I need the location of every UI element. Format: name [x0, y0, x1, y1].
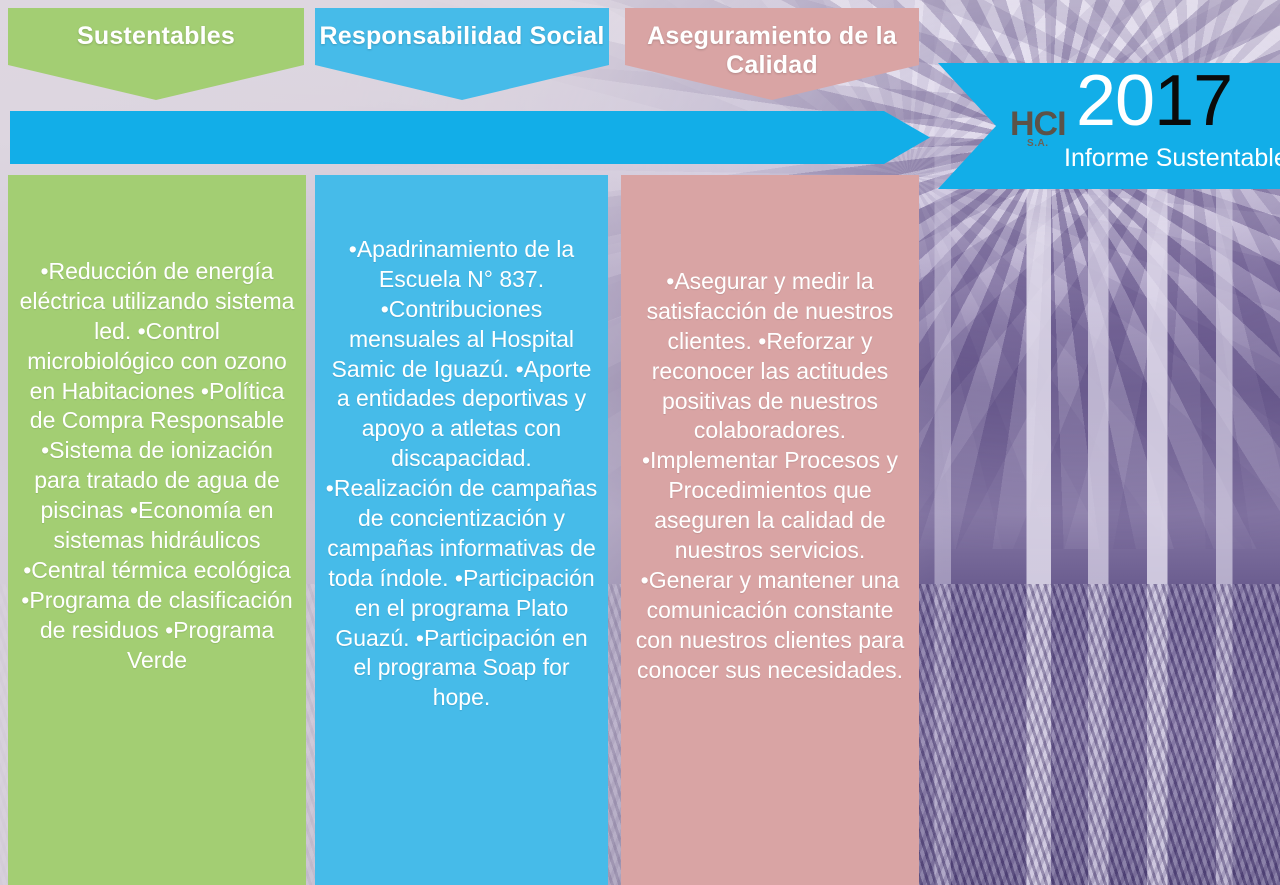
column-aseguramiento-calidad: •Asegurar y medir la satisfacción de nue…	[621, 175, 919, 885]
tab-responsabilidad-social-label: Responsabilidad Social	[319, 22, 604, 51]
column-aseguramiento-calidad-text: •Asegurar y medir la satisfacción de nue…	[631, 189, 909, 685]
tab-aseguramiento-calidad-label: Aseguramiento de la Calidad	[625, 22, 919, 80]
column-sustentables-text: •Reducción de energía eléctrica utilizan…	[18, 189, 296, 675]
tab-aseguramiento-calidad[interactable]: Aseguramiento de la Calidad	[625, 8, 919, 100]
tab-responsabilidad-social[interactable]: Responsabilidad Social	[315, 8, 609, 100]
report-subtitle: Informe Sustentable	[1064, 146, 1280, 171]
column-responsabilidad-social: •Apadrinamiento de la Escuela N° 837. •C…	[315, 175, 608, 885]
report-year-second-half: 17	[1154, 61, 1232, 141]
column-sustentables: •Reducción de energía eléctrica utilizan…	[8, 175, 306, 885]
tab-sustentables-label: Sustentables	[77, 22, 235, 51]
sustainability-report-poster: Sustentables Responsabilidad Social Aseg…	[0, 0, 1280, 885]
hci-logo: HCI S.A.	[1010, 107, 1066, 149]
hci-logo-name: HCI	[1010, 107, 1066, 141]
report-year-first-half: 20	[1076, 61, 1154, 141]
report-year: 2017	[1076, 65, 1232, 137]
tab-sustentables[interactable]: Sustentables	[8, 8, 304, 100]
column-responsabilidad-social-text: •Apadrinamiento de la Escuela N° 837. •C…	[325, 189, 598, 713]
blue-arrow-banner	[10, 111, 930, 164]
